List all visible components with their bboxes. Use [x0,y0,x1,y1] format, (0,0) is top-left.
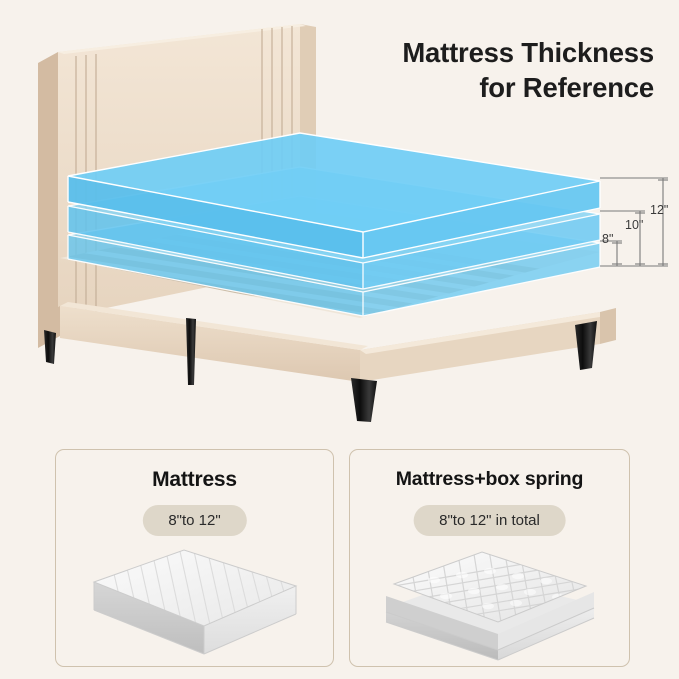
leg-back-left [44,330,56,364]
mattress-box-spring-illustration [350,542,629,666]
leg-front-right [575,321,597,370]
card-mattress-box-spring: Mattress+box spring 8"to 12" in total [349,449,630,667]
card-mattress: Mattress 8"to 12" [55,449,334,667]
card-combo-badge: 8"to 12" in total [413,505,566,536]
card-combo-title: Mattress+box spring [350,468,629,491]
card-mattress-title: Mattress [56,468,333,492]
bed-diagram: 8" 10" 12" [0,0,679,440]
infographic-root: Mattress Thickness for Reference [0,0,679,679]
bed-frame [38,302,616,382]
dimension-label-8in: 8" [602,232,613,246]
dimension-label-10in: 10" [625,218,643,232]
mattress-illustration [56,542,333,666]
dimension-label-12in: 12" [650,203,668,217]
leg-front-left [351,378,377,422]
comparison-cards: Mattress 8"to 12" [0,449,679,679]
center-support-leg [186,318,196,385]
card-mattress-badge: 8"to 12" [142,505,246,536]
